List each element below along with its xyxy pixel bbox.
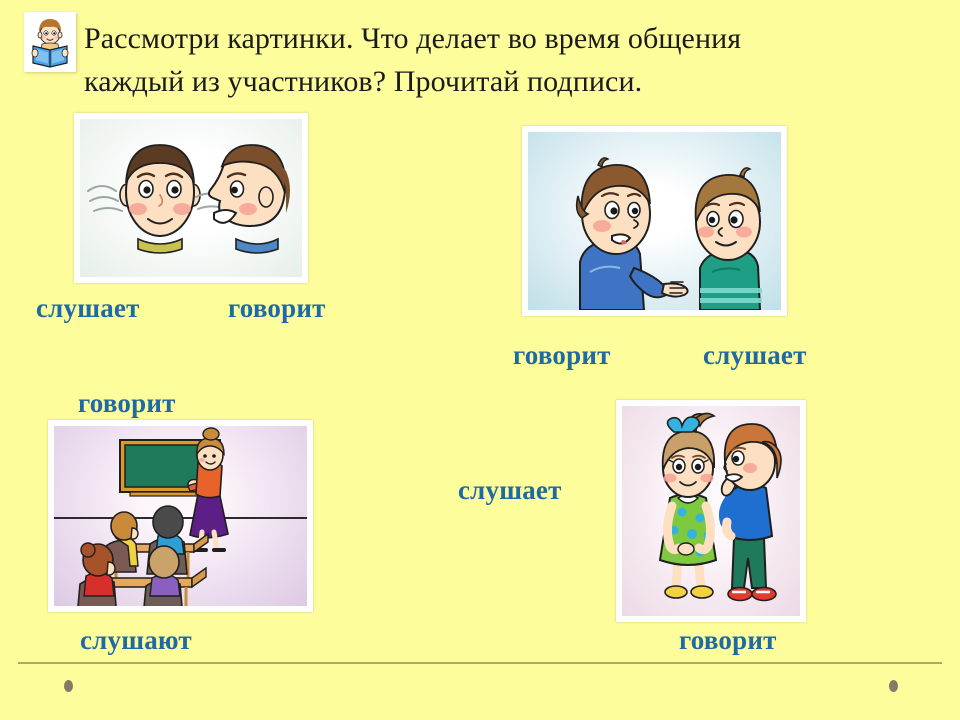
picture-two-faces xyxy=(74,113,308,283)
caption-listen-pupils: слушают xyxy=(80,625,192,656)
footer-divider xyxy=(18,662,942,664)
picture-classroom-art xyxy=(54,426,307,606)
footer-dot-left xyxy=(64,680,73,692)
caption-listens-boy: слушает xyxy=(703,340,807,371)
picture-classroom xyxy=(48,420,313,612)
caption-speaks-teacher: говорит xyxy=(78,388,176,419)
caption-speaks-boy: говорит xyxy=(513,340,611,371)
title-line-1: Рассмотри картинки. Что делает во время … xyxy=(84,18,946,61)
caption-listens-girl: слушает xyxy=(458,475,562,506)
boy-reading-book-icon xyxy=(24,12,76,72)
slide-canvas: Рассмотри картинки. Что делает во время … xyxy=(0,0,960,720)
caption-listens-face: слушает xyxy=(36,293,140,324)
picture-two-boys xyxy=(522,126,787,316)
caption-speaks-face: говорит xyxy=(228,293,326,324)
title-line-2: каждый из участников? Прочитай подписи. xyxy=(84,61,946,104)
picture-two-boys-art xyxy=(528,132,781,310)
picture-two-faces-art xyxy=(80,119,302,277)
picture-girl-and-boy-art xyxy=(622,406,800,616)
picture-girl-and-boy xyxy=(616,400,806,622)
caption-speaks-whisper-boy: говорит xyxy=(679,625,777,656)
page-title: Рассмотри картинки. Что делает во время … xyxy=(84,18,946,103)
footer-dot-right xyxy=(889,680,898,692)
